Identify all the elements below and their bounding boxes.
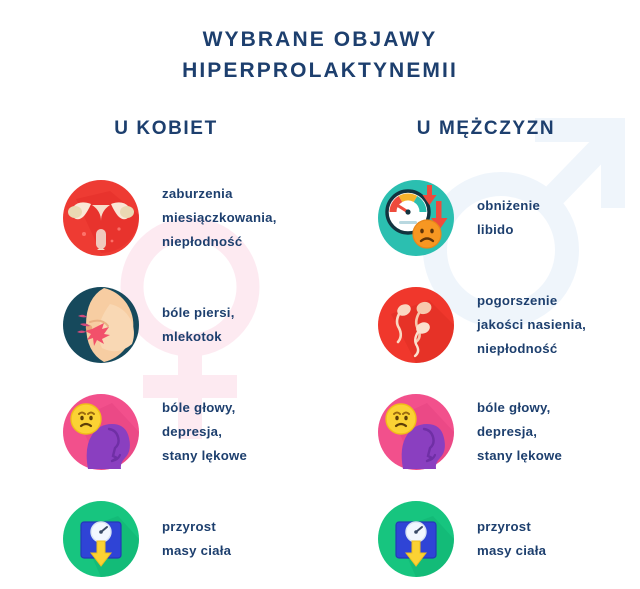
symptom-line: masy ciała (162, 539, 231, 563)
symptom-row: przyrost masy ciała (320, 485, 640, 589)
symptom-line: pogorszenie (477, 289, 586, 313)
symptom-row: pogorszenie jakości nasienia, niepłodnoś… (320, 271, 640, 378)
symptom-text: bóle głowy, depresja, stany lękowe (477, 396, 562, 468)
uterus-icon (62, 179, 140, 257)
symptom-line: przyrost (477, 515, 546, 539)
title-line-1: WYBRANE OBJAWY (0, 24, 640, 55)
weight-scale-icon (377, 500, 455, 578)
column-men: U MĘŻCZYZN (320, 118, 640, 589)
symptom-text: przyrost masy ciała (477, 515, 546, 563)
headache-head-icon (62, 393, 140, 471)
title-line-2: HIPERPROLAKTYNEMII (0, 55, 640, 86)
symptom-list-men: obniżenie libido (320, 164, 640, 589)
symptom-line: libido (477, 218, 540, 242)
symptom-line: stany lękowe (477, 444, 562, 468)
symptom-text: pogorszenie jakości nasienia, niepłodnoś… (477, 289, 586, 361)
symptom-row: zaburzenia miesiączkowania, niepłodność (0, 164, 320, 271)
infographic-poster: WYBRANE OBJAWY HIPERPROLAKTYNEMII U KOBI… (0, 0, 640, 589)
symptom-row: przyrost masy ciała (0, 485, 320, 589)
symptom-row: bóle głowy, depresja, stany lękowe (320, 378, 640, 485)
column-heading-men: U MĘŻCZYZN (320, 118, 640, 148)
column-heading-women: U KOBIET (0, 118, 320, 148)
symptom-line: niepłodność (162, 230, 277, 254)
symptom-text: przyrost masy ciała (162, 515, 231, 563)
poster-title: WYBRANE OBJAWY HIPERPROLAKTYNEMII (0, 24, 640, 86)
symptom-line: przyrost (162, 515, 231, 539)
symptom-line: zaburzenia (162, 182, 277, 206)
symptom-line: mlekotok (162, 325, 235, 349)
symptom-line: bóle piersi, (162, 301, 235, 325)
symptom-list-women: zaburzenia miesiączkowania, niepłodność (0, 164, 320, 589)
symptom-line: bóle głowy, (477, 396, 562, 420)
sperm-icon (377, 286, 455, 364)
symptom-line: stany lękowe (162, 444, 247, 468)
symptom-line: jakości nasienia, (477, 313, 586, 337)
symptom-line: masy ciała (477, 539, 546, 563)
weight-scale-icon (62, 500, 140, 578)
symptom-row: bóle głowy, depresja, stany lękowe (0, 378, 320, 485)
libido-gauge-icon (377, 179, 455, 257)
symptom-line: bóle głowy, (162, 396, 247, 420)
headache-head-icon (377, 393, 455, 471)
symptom-row: obniżenie libido (320, 164, 640, 271)
symptom-line: depresja, (162, 420, 247, 444)
symptom-row: bóle piersi, mlekotok (0, 271, 320, 378)
symptom-line: niepłodność (477, 337, 586, 361)
symptom-line: obniżenie (477, 194, 540, 218)
symptom-text: zaburzenia miesiączkowania, niepłodność (162, 182, 277, 254)
symptom-line: miesiączkowania, (162, 206, 277, 230)
symptom-line: depresja, (477, 420, 562, 444)
symptom-text: obniżenie libido (477, 194, 540, 242)
symptom-text: bóle głowy, depresja, stany lękowe (162, 396, 247, 468)
column-women: U KOBIET (0, 118, 320, 589)
breast-icon (62, 286, 140, 364)
symptom-text: bóle piersi, mlekotok (162, 301, 235, 349)
